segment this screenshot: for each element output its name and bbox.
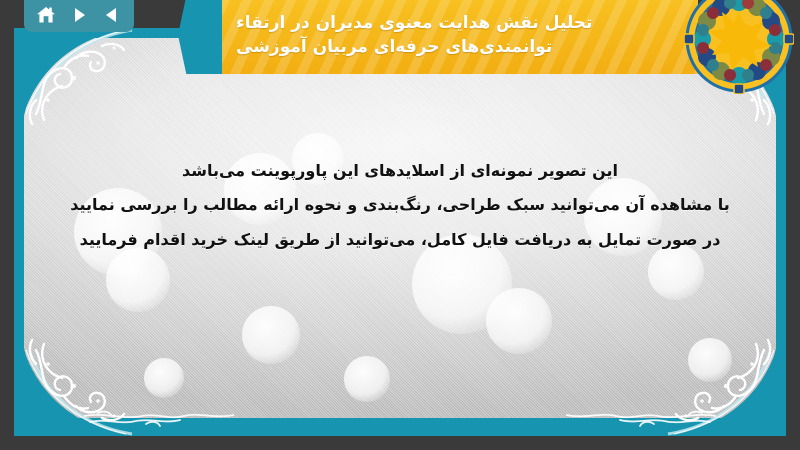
forward-button[interactable]: Forward bbox=[66, 3, 92, 27]
slide-content-area: این تصویر نمونه‌ای از اسلایدهای این پاور… bbox=[24, 38, 776, 418]
bokeh-circle bbox=[242, 306, 300, 364]
bokeh-circle bbox=[344, 356, 390, 402]
body-line: با مشاهده آن می‌توانید سبک طراحی، رنگ‌بن… bbox=[70, 190, 730, 220]
title-banner: تحلیل نقش هدایت معنوی مدیران در ارتقاء ت… bbox=[178, 0, 698, 74]
home-button[interactable]: Home bbox=[33, 3, 59, 27]
triangle-right-icon bbox=[69, 5, 89, 25]
slide-viewer: Back Forward Home bbox=[0, 0, 800, 450]
home-icon bbox=[35, 5, 57, 25]
banner-ribbon-tail bbox=[178, 0, 224, 74]
navigation-bar: Back Forward Home bbox=[24, 0, 134, 32]
back-button[interactable]: Back bbox=[99, 3, 125, 27]
body-line: در صورت تمایل به دریافت فایل کامل، می‌تو… bbox=[80, 225, 721, 255]
triangle-left-icon bbox=[102, 5, 122, 25]
title-line: توانمندی‌های حرفه‌ای مربیان آموزشی bbox=[236, 35, 552, 59]
persian-medallion-icon bbox=[684, 0, 794, 94]
bokeh-circle bbox=[486, 288, 552, 354]
slide-body-text: این تصویر نمونه‌ای از اسلایدهای این پاور… bbox=[24, 156, 776, 255]
bokeh-circle bbox=[144, 358, 184, 398]
body-line: این تصویر نمونه‌ای از اسلایدهای این پاور… bbox=[182, 156, 618, 186]
slide-canvas: این تصویر نمونه‌ای از اسلایدهای این پاور… bbox=[14, 28, 786, 436]
title-line: تحلیل نقش هدایت معنوی مدیران در ارتقاء bbox=[236, 11, 592, 35]
banner-body: تحلیل نقش هدایت معنوی مدیران در ارتقاء ت… bbox=[222, 0, 698, 74]
bokeh-circle bbox=[106, 248, 170, 312]
bokeh-circle bbox=[688, 338, 732, 382]
